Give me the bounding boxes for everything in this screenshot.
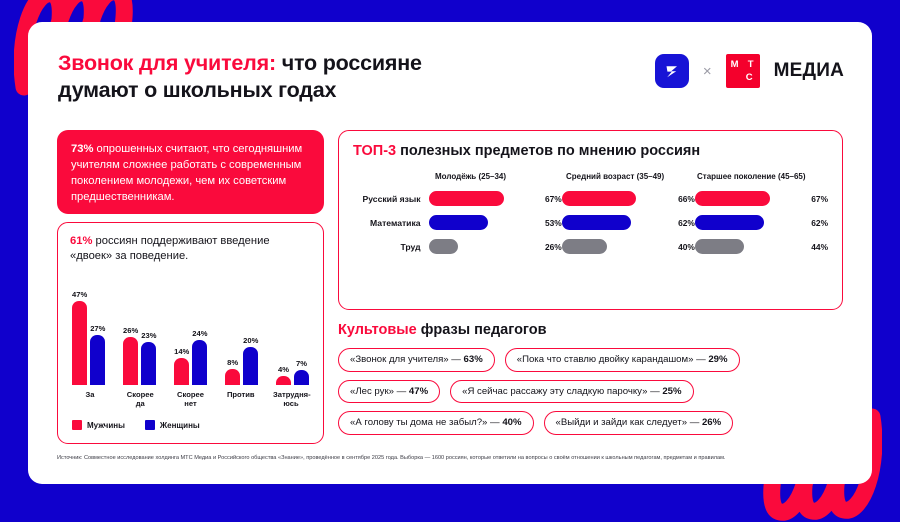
znanie-z-icon bbox=[662, 61, 682, 81]
x-label-za: За bbox=[72, 390, 108, 408]
bar-women-zatrudnyayus: 7% bbox=[294, 359, 309, 385]
column-header-middle: Средний возраст (35–49) bbox=[566, 172, 697, 182]
infographic-card: Звонок для учителя: что россияне думают … bbox=[28, 22, 872, 484]
behavior-chart-headline: 61% россиян поддерживают введение «двоек… bbox=[70, 234, 311, 265]
cell-labor-senior: 44% bbox=[695, 239, 828, 254]
mts-letter-s: С bbox=[746, 73, 753, 83]
phrase-text: «Я сейчас рассажу эту сладкую парочку» — bbox=[462, 386, 662, 397]
phrase-text: «Звонок для учителя» — bbox=[350, 354, 464, 365]
row-label-math: Математика bbox=[353, 218, 429, 228]
mts-media-wordmark: МЕДИА bbox=[774, 60, 844, 82]
phrase-pill-rows: «Звонок для учителя» — 63% «Пока что ста… bbox=[338, 348, 843, 435]
phrases-title-accent: Культовые bbox=[338, 322, 417, 338]
logo-group: × М Т С МЕДИА bbox=[655, 54, 844, 88]
cell-math-senior: 62% bbox=[695, 215, 828, 230]
legend-label-women: Женщины bbox=[160, 421, 200, 430]
row-label-russian: Русский язык bbox=[353, 194, 429, 204]
phrase-value: 47% bbox=[409, 386, 428, 397]
table-row: Математика 53% 62% 62% bbox=[353, 215, 828, 230]
behavior-x-axis-labels: За Скорее да Скорее нет Против Затрудня-… bbox=[70, 390, 311, 408]
bar-women-protiv: 20% bbox=[243, 336, 258, 385]
mts-letter-t: Т bbox=[748, 60, 754, 70]
x-label-protiv: Против bbox=[223, 390, 259, 408]
phrase-pill-golovu[interactable]: «А голову ты дома не забыл?» — 40% bbox=[338, 411, 534, 435]
phrase-pill-karandash[interactable]: «Пока что ставлю двойку карандашом» — 29… bbox=[505, 348, 740, 372]
bar-value-label: 7% bbox=[296, 359, 307, 368]
phrases-section: Культовые фразы педагогов «Звонок для уч… bbox=[338, 322, 843, 443]
phrase-text: «А голову ты дома не забыл?» — bbox=[350, 417, 502, 428]
phrase-row-2: «Лес рук» — 47% «Я сейчас рассажу эту сл… bbox=[338, 380, 843, 404]
bar-men-protiv: 8% bbox=[225, 358, 240, 385]
cell-value: 67% bbox=[539, 194, 562, 204]
title-accent: Звонок для учителя: bbox=[58, 51, 276, 75]
cell-value: 40% bbox=[672, 242, 695, 252]
legend-item-men: Мужчины bbox=[72, 420, 125, 430]
cell-russian-youth: 67% bbox=[429, 191, 562, 206]
phrase-text: «Выйди и зайди как следует» — bbox=[556, 417, 702, 428]
bar-value-label: 27% bbox=[90, 324, 105, 333]
cell-math-middle: 62% bbox=[562, 215, 695, 230]
bar-value-label: 23% bbox=[141, 331, 156, 340]
cell-value: 62% bbox=[672, 218, 695, 228]
row-label-labor: Труд bbox=[353, 242, 429, 252]
bar-men-skoree-da: 26% bbox=[123, 326, 138, 385]
bar-group-skoree-net: 14% 24% bbox=[174, 329, 207, 385]
bar-women-skoree-net: 24% bbox=[192, 329, 207, 385]
bar-value-label: 24% bbox=[192, 329, 207, 338]
top3-column-headers: Молодёжь (25–34) Средний возраст (35–49)… bbox=[353, 172, 828, 182]
legend-swatch-men-icon bbox=[72, 420, 82, 430]
bar-value-label: 26% bbox=[123, 326, 138, 335]
title-line2: думают о школьных годах bbox=[58, 78, 336, 102]
cell-value: 44% bbox=[805, 242, 828, 252]
cell-value: 53% bbox=[539, 218, 562, 228]
phrase-value: 40% bbox=[502, 417, 521, 428]
column-header-senior: Старшее поколение (45–65) bbox=[697, 172, 828, 182]
bar-women-skoree-da: 23% bbox=[141, 331, 156, 385]
top3-panel: ТОП-3 полезных предметов по мнению росси… bbox=[338, 130, 843, 310]
phrases-title-rest: фразы педагогов bbox=[417, 322, 547, 338]
cell-labor-middle: 40% bbox=[562, 239, 695, 254]
top3-title-accent: ТОП-3 bbox=[353, 143, 396, 159]
bar-value-label: 14% bbox=[174, 347, 189, 356]
mts-logo: М Т С bbox=[726, 54, 760, 88]
cell-math-youth: 53% bbox=[429, 215, 562, 230]
x-label-skoree-da: Скорее да bbox=[122, 390, 158, 408]
cell-value: 67% bbox=[805, 194, 828, 204]
phrase-pill-zvonok[interactable]: «Звонок для учителя» — 63% bbox=[338, 348, 495, 372]
behavior-bar-plot: 47% 27% 26% 23% bbox=[70, 277, 311, 385]
table-row: Труд 26% 40% 44% bbox=[353, 239, 828, 254]
behavior-legend: Мужчины Женщины bbox=[70, 420, 311, 430]
bar-men-zatrudnyayus: 4% bbox=[276, 365, 291, 385]
cell-value: 66% bbox=[672, 194, 695, 204]
mts-letter-m: М bbox=[731, 60, 739, 70]
cell-russian-middle: 66% bbox=[562, 191, 695, 206]
callout-percent: 73% bbox=[71, 143, 93, 155]
phrase-text: «Лес рук» — bbox=[350, 386, 409, 397]
cell-labor-youth: 26% bbox=[429, 239, 562, 254]
phrase-pill-vyidi[interactable]: «Выйди и зайди как следует» — 26% bbox=[544, 411, 734, 435]
phrase-row-3: «А голову ты дома не забыл?» — 40% «Выйд… bbox=[338, 411, 843, 435]
table-row: Русский язык 67% 66% 67% bbox=[353, 191, 828, 206]
phrase-value: 25% bbox=[662, 386, 681, 397]
x-separator-icon: × bbox=[703, 63, 712, 80]
behavior-headline-accent: 61% bbox=[70, 235, 92, 247]
callout-box: 73% опрошенных считают, что сегодняшним … bbox=[57, 130, 324, 214]
top3-title-rest: полезных предметов по мнению россиян bbox=[396, 143, 700, 159]
phrase-value: 26% bbox=[702, 417, 721, 428]
x-label-skoree-net: Скорее нет bbox=[173, 390, 209, 408]
bar-group-za: 47% 27% bbox=[72, 290, 105, 385]
header: Звонок для учителя: что россияне думают … bbox=[58, 50, 848, 114]
bar-men-za: 47% bbox=[72, 290, 87, 385]
bar-value-label: 4% bbox=[278, 365, 289, 374]
bar-group-protiv: 8% 20% bbox=[225, 336, 258, 385]
cell-russian-senior: 67% bbox=[695, 191, 828, 206]
phrase-text: «Пока что ставлю двойку карандашом» — bbox=[517, 354, 709, 365]
title-rest: что россияне bbox=[276, 51, 422, 75]
bar-value-label: 20% bbox=[243, 336, 258, 345]
behavior-headline-rest: россиян поддерживают введение «двоек» за… bbox=[70, 235, 270, 262]
x-label-zatrudnyayus: Затрудня-юсь bbox=[273, 390, 309, 408]
legend-swatch-women-icon bbox=[145, 420, 155, 430]
phrase-row-1: «Звонок для учителя» — 63% «Пока что ста… bbox=[338, 348, 843, 372]
top3-title: ТОП-3 полезных предметов по мнению росси… bbox=[353, 143, 828, 159]
znanie-logo bbox=[655, 54, 689, 88]
cell-value: 26% bbox=[539, 242, 562, 252]
bar-group-zatrudnyayus: 4% 7% bbox=[276, 359, 309, 385]
phrase-pill-les-ruk[interactable]: «Лес рук» — 47% bbox=[338, 380, 440, 404]
phrases-title: Культовые фразы педагогов bbox=[338, 322, 843, 338]
phrase-pill-parochku[interactable]: «Я сейчас рассажу эту сладкую парочку» —… bbox=[450, 380, 693, 404]
column-header-youth: Молодёжь (25–34) bbox=[435, 172, 566, 182]
phrase-value: 29% bbox=[708, 354, 727, 365]
cell-value: 62% bbox=[805, 218, 828, 228]
phrase-value: 63% bbox=[464, 354, 483, 365]
behavior-chart-card: 61% россиян поддерживают введение «двоек… bbox=[57, 222, 324, 444]
bar-women-za: 27% bbox=[90, 324, 105, 385]
bar-group-skoree-da: 26% 23% bbox=[123, 326, 156, 385]
source-footnote: Источник: Совместное исследование холдин… bbox=[57, 454, 847, 462]
legend-item-women: Женщины bbox=[145, 420, 200, 430]
bar-men-skoree-net: 14% bbox=[174, 347, 189, 385]
bar-value-label: 47% bbox=[72, 290, 87, 299]
bar-value-label: 8% bbox=[227, 358, 238, 367]
callout-text: опрошенных считают, что сегодняшним учит… bbox=[71, 143, 302, 203]
legend-label-men: Мужчины bbox=[87, 421, 125, 430]
